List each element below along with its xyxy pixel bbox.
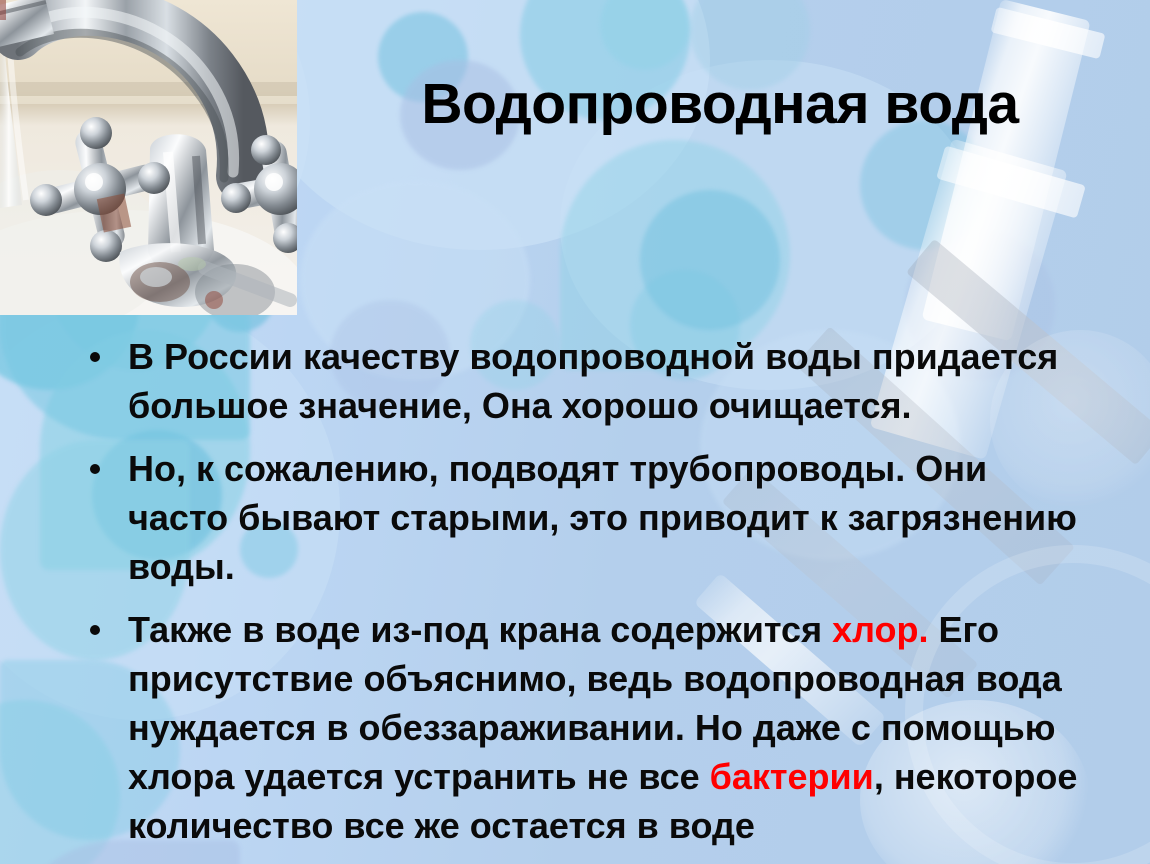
bullet-text: В России качеству водопроводной воды при… (128, 336, 1058, 426)
highlight-chlorine: хлор. (832, 609, 928, 650)
bullet-dot-icon (90, 464, 100, 474)
bullet-dot-icon (90, 352, 100, 362)
page-title: Водопроводная вода (300, 74, 1140, 134)
list-item: В России качеству водопроводной воды при… (82, 332, 1092, 430)
highlight-bacteria: бактерии (710, 756, 874, 797)
bullet-text: Но, к сожалению, подводят трубопроводы. … (128, 448, 1077, 587)
bullet-text: Также в воде из-под крана содержится хло… (128, 609, 1077, 846)
list-item: Также в воде из-под крана содержится хло… (82, 605, 1092, 850)
bullet-list: В России качеству водопроводной воды при… (82, 332, 1092, 850)
presentation-slide: Водопроводная вода В России качеству вод… (0, 0, 1150, 864)
bullet-dot-icon (90, 625, 100, 635)
faucet-photo (0, 0, 297, 315)
list-item: Но, к сожалению, подводят трубопроводы. … (82, 444, 1092, 591)
